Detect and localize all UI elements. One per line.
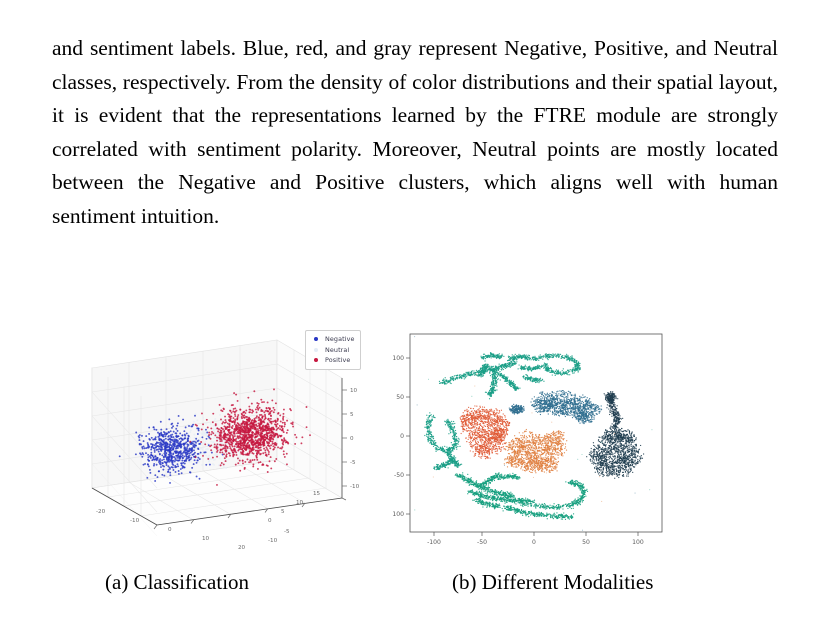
legend-classification[interactable]: Negative Neutral Positive: [305, 330, 361, 370]
y-tick-label: 50: [396, 394, 404, 401]
y-tick-label: 0: [268, 518, 272, 524]
legend-item[interactable]: Neutral: [310, 345, 354, 356]
x-tick-label: -100: [427, 539, 441, 546]
legend-label: Positive: [325, 356, 350, 364]
y-axis-ticks-b: 100 50 0 -50 -100: [392, 355, 410, 518]
figure-panel-a-classification: 10 5 0 -5 -10 -20 -10: [62, 320, 372, 570]
caption-panel-a: (a) Classification: [105, 570, 249, 595]
x-tick-label: 20: [238, 545, 246, 551]
y-tick-label: -10: [268, 538, 278, 544]
y-tick-label: -50: [394, 472, 404, 479]
x-tick-label: 50: [582, 539, 590, 546]
legend-marker-neutral: [314, 348, 318, 352]
plot-frame: [410, 334, 662, 532]
legend-item[interactable]: Positive: [310, 355, 354, 366]
caption-panel-b: (b) Different Modalities: [452, 570, 653, 595]
x-tick-label: 100: [632, 539, 644, 546]
y-tick-label: -100: [392, 511, 404, 518]
x-tick-label: 0: [168, 527, 172, 533]
z-tick-label: 10: [350, 388, 358, 394]
y-tick-label: -5: [284, 529, 290, 535]
z-tick-label: 5: [350, 412, 354, 418]
z-axis-ticks: 10 5 0 -5 -10: [342, 388, 360, 490]
scatter-tsne-plot: 100 50 0 -50 -100 -100 -5: [392, 322, 792, 570]
x-tick-label: -20: [96, 509, 106, 515]
z-tick-label: 0: [350, 436, 354, 442]
y-tick-label: 10: [296, 500, 304, 506]
legend-marker-positive: [314, 358, 318, 362]
x-tick-label: -10: [130, 518, 140, 524]
y-tick-label: 5: [281, 509, 285, 515]
z-tick-label: -10: [350, 484, 360, 490]
y-tick-label: 100: [392, 355, 404, 362]
legend-marker-negative: [314, 337, 318, 341]
body-paragraph: and sentiment labels. Blue, red, and gra…: [52, 32, 778, 233]
figure-panel-b-modalities: 100 50 0 -50 -100 -100 -5: [392, 322, 792, 570]
z-tick-label: -5: [350, 460, 356, 466]
legend-item[interactable]: Negative: [310, 334, 354, 345]
y-tick-label: 0: [400, 433, 404, 440]
x-axis-ticks-b: -100 -50 0 50 100: [427, 532, 644, 546]
legend-label: Neutral: [325, 346, 349, 354]
page-root: and sentiment labels. Blue, red, and gra…: [0, 0, 832, 630]
x-tick-label: 10: [202, 536, 210, 542]
x-tick-label: -50: [477, 539, 487, 546]
x-tick-label: 0: [532, 539, 536, 546]
legend-label: Negative: [325, 335, 354, 343]
y-tick-label: 15: [313, 491, 321, 497]
